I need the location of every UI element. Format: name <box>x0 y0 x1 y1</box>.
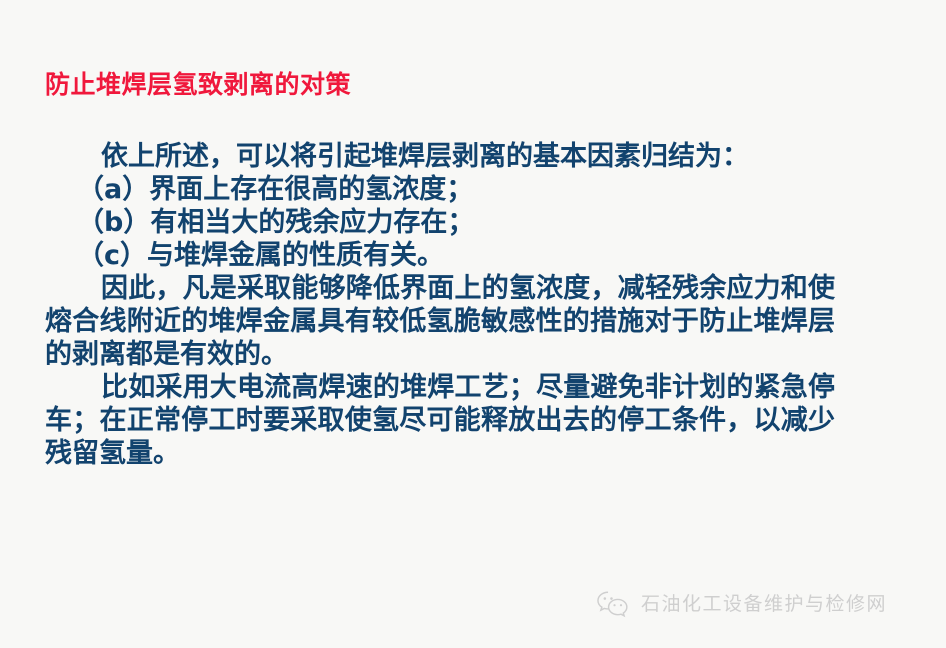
factor-list-item-c: （c）与堆焊金属的性质有关。 <box>45 239 835 272</box>
slide-body: 依上所述，可以将引起堆焊层剥离的基本因素归结为： （a）界面上存在很高的氢浓度；… <box>45 140 835 470</box>
footer-watermark-label: 石油化工设备维护与检修网 <box>641 595 887 614</box>
wechat-logo-icon <box>596 589 630 619</box>
body-paragraph-intro: 依上所述，可以将引起堆焊层剥离的基本因素归结为： <box>45 140 835 173</box>
slide-canvas: 防止堆焊层氢致剥离的对策 依上所述，可以将引起堆焊层剥离的基本因素归结为： （a… <box>0 0 946 648</box>
footer-watermark: 石油化工设备维护与检修网 <box>596 589 887 619</box>
factor-list-item-b: （b）有相当大的残余应力存在； <box>45 206 835 239</box>
body-paragraph-measures: 比如采用大电流高焊速的堆焊工艺；尽量避免非计划的紧急停车；在正常停工时要采取使氢… <box>45 371 835 470</box>
factor-list-item-a: （a）界面上存在很高的氢浓度； <box>45 173 835 206</box>
body-paragraph-conclusion: 因此，凡是采取能够降低界面上的氢浓度，减轻残余应力和使熔合线附近的堆焊金属具有较… <box>45 272 835 371</box>
page-title: 防止堆焊层氢致剥离的对策 <box>45 69 351 100</box>
